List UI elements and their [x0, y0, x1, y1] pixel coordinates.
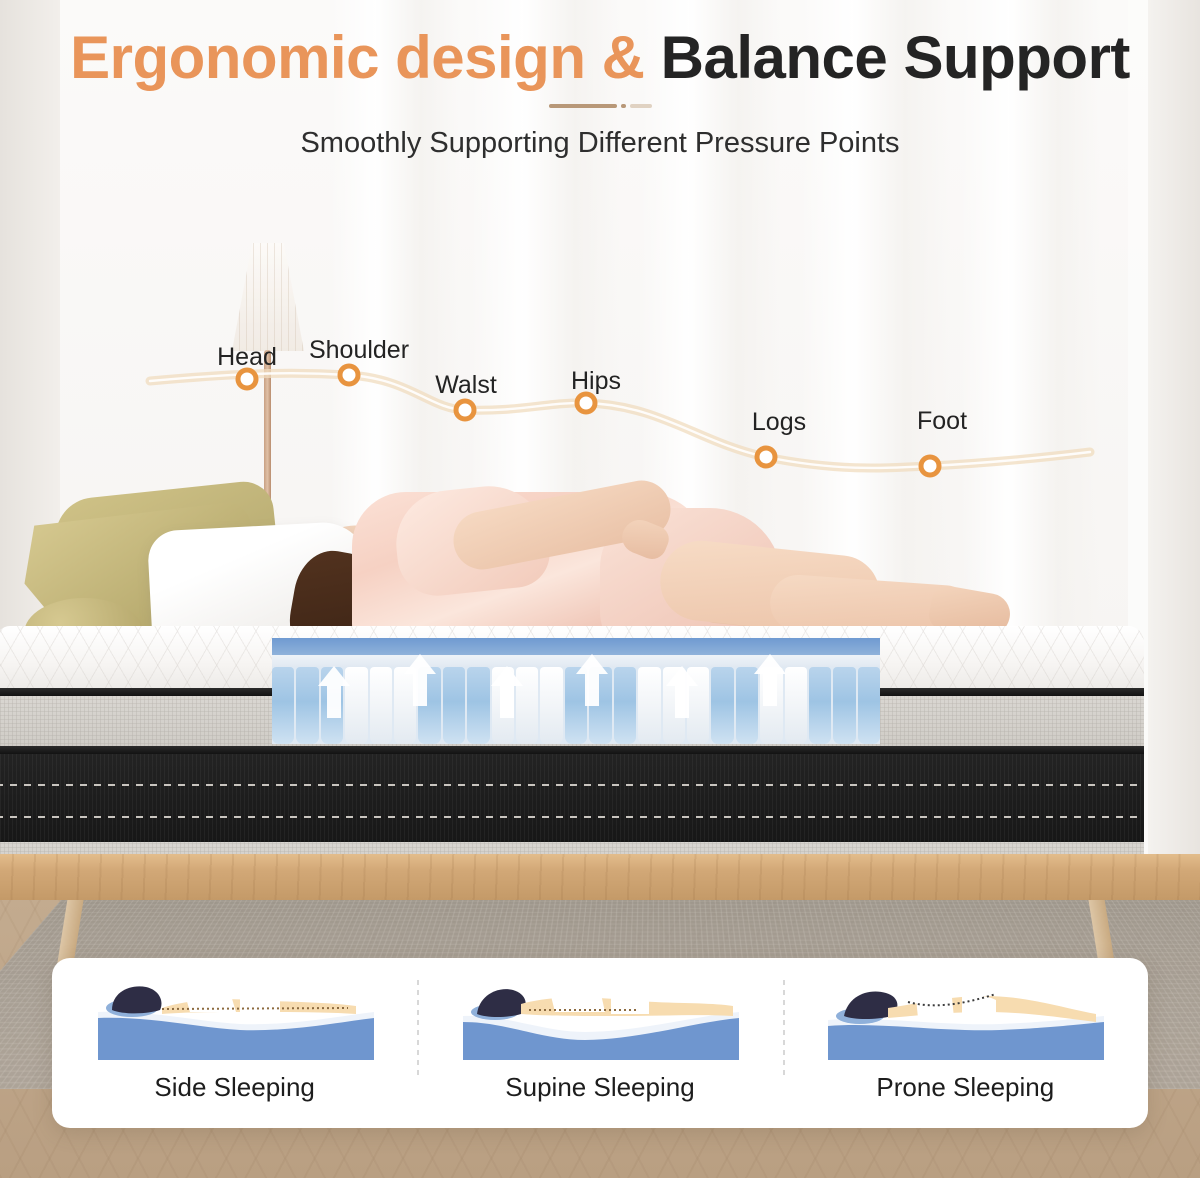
- ornament-dot: [621, 104, 626, 108]
- support-arrow-icon: [750, 652, 790, 708]
- pocket-coil: [638, 667, 660, 744]
- pressure-label-head: Head: [217, 343, 277, 372]
- title-dark: Balance Support: [661, 24, 1130, 91]
- mattress-stitch-line: [0, 816, 1144, 818]
- mattress-coil-cutaway: [272, 638, 880, 744]
- page-title: Ergonomic design & Balance Support: [0, 26, 1200, 89]
- sleeping-panel-label: Side Sleeping: [154, 1072, 314, 1103]
- pocket-coil: [833, 667, 855, 744]
- sleeping-panel-label: Supine Sleeping: [505, 1072, 694, 1103]
- mattress-stitch-line: [0, 784, 1144, 786]
- ornament-tail: [630, 104, 652, 108]
- pocket-coil: [540, 667, 562, 744]
- sleeping-panel-label: Prone Sleeping: [876, 1072, 1054, 1103]
- pocket-coil: [614, 667, 636, 744]
- pressure-marker-walst: [456, 401, 474, 419]
- mattress-piping-mid: [0, 746, 1144, 754]
- pocket-coil: [443, 667, 465, 744]
- sleeping-positions-card: Side Sleeping Supine Sleeping: [52, 958, 1148, 1128]
- ornament-bar: [549, 104, 617, 108]
- side-sleeping-illustration: [90, 968, 380, 1066]
- pocket-coil: [858, 667, 880, 744]
- pressure-marker-head: [238, 370, 256, 388]
- pressure-label-hips: Hips: [571, 367, 621, 396]
- sleeping-panel-side[interactable]: Side Sleeping: [52, 958, 417, 1128]
- pocket-coil: [370, 667, 392, 744]
- support-arrow-icon: [487, 664, 527, 720]
- sleeping-panel-supine[interactable]: Supine Sleeping: [417, 958, 782, 1128]
- title-ornament: [0, 101, 1200, 111]
- mattress-dark-band: [0, 754, 1144, 842]
- support-arrow-icon: [400, 652, 440, 708]
- bed-frame-rail: [0, 854, 1200, 900]
- mattress: [0, 626, 1144, 866]
- support-arrow-icon: [572, 652, 612, 708]
- prone-sleeping-illustration: [820, 968, 1110, 1066]
- pressure-marker-shoulder: [340, 366, 358, 384]
- product-infographic: Ergonomic design & Balance Support Smoot…: [0, 0, 1200, 1178]
- sleeping-panel-prone[interactable]: Prone Sleeping: [783, 958, 1148, 1128]
- header: Ergonomic design & Balance Support Smoot…: [0, 0, 1200, 160]
- page-subtitle: Smoothly Supporting Different Pressure P…: [0, 127, 1200, 160]
- pocket-coil: [272, 667, 294, 744]
- pressure-label-shoulder: Shoulder: [309, 336, 409, 365]
- pressure-label-logs: Logs: [752, 408, 806, 437]
- pressure-marker-logs: [757, 448, 775, 466]
- support-arrow-icon: [662, 664, 702, 720]
- supine-sleeping-illustration: [455, 968, 745, 1066]
- title-accent: Ergonomic design &: [70, 24, 644, 91]
- pocket-coil: [809, 667, 831, 744]
- pressure-marker-hips: [577, 394, 595, 412]
- pressure-marker-foot: [921, 457, 939, 475]
- pressure-label-foot: Foot: [917, 407, 967, 436]
- pressure-label-walst: Walst: [435, 371, 497, 400]
- support-arrow-icon: [314, 664, 354, 720]
- pocket-coil: [711, 667, 733, 744]
